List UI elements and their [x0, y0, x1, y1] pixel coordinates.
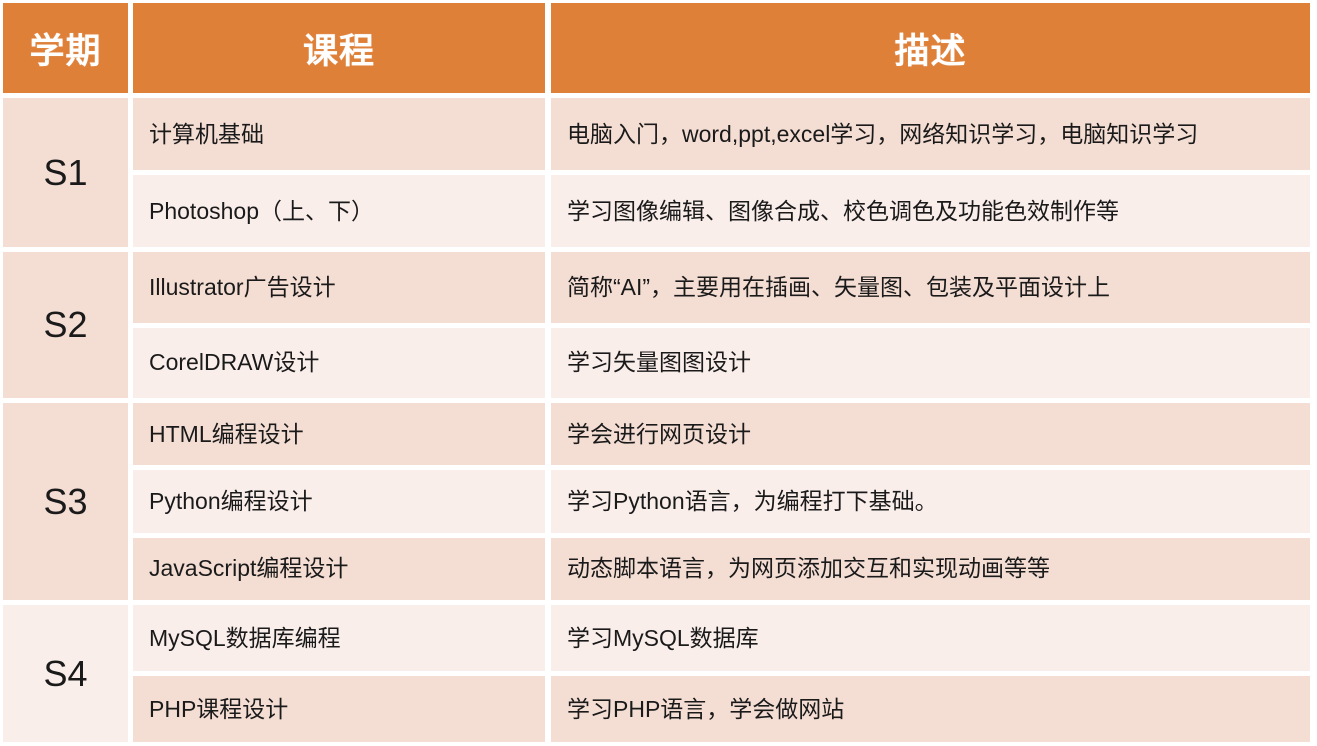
semester-group-s2: S2 Illustrator广告设计 简称“AI”，主要用在插画、矢量图、包装及… — [0, 252, 1317, 398]
course-description: 学习PHP语言，学会做网站 — [551, 676, 1310, 742]
semester-group-s4: S4 MySQL数据库编程 学习MySQL数据库 PHP课程设计 学习PHP语言… — [0, 605, 1317, 742]
table-row: Illustrator广告设计 简称“AI”，主要用在插画、矢量图、包装及平面设… — [133, 252, 1310, 323]
course-description: 动态脚本语言，为网页添加交互和实现动画等等 — [551, 538, 1310, 600]
course-description: 学习图像编辑、图像合成、校色调色及功能色效制作等 — [551, 175, 1310, 247]
table-header-row: 学期 课程 描述 — [0, 0, 1317, 93]
course-description: 学会进行网页设计 — [551, 403, 1310, 465]
course-name: MySQL数据库编程 — [133, 605, 545, 671]
course-name: PHP课程设计 — [133, 676, 545, 742]
course-name: Python编程设计 — [133, 470, 545, 532]
course-name: CorelDRAW设计 — [133, 328, 545, 399]
course-description: 电脑入门，word,ppt,excel学习，网络知识学习，电脑知识学习 — [551, 98, 1310, 170]
course-description: 学习MySQL数据库 — [551, 605, 1310, 671]
semester-label-s3: S3 — [3, 403, 128, 600]
semester-label-s4: S4 — [3, 605, 128, 742]
semester-group-s1: S1 计算机基础 电脑入门，word,ppt,excel学习，网络知识学习，电脑… — [0, 98, 1317, 247]
semester-group-s3: S3 HTML编程设计 学会进行网页设计 Python编程设计 学习Python… — [0, 403, 1317, 600]
course-name: HTML编程设计 — [133, 403, 545, 465]
table-row: CorelDRAW设计 学习矢量图图设计 — [133, 328, 1310, 399]
course-name: JavaScript编程设计 — [133, 538, 545, 600]
table-row: 计算机基础 电脑入门，word,ppt,excel学习，网络知识学习，电脑知识学… — [133, 98, 1310, 170]
table-row: Python编程设计 学习Python语言，为编程打下基础。 — [133, 470, 1310, 532]
course-description: 学习矢量图图设计 — [551, 328, 1310, 399]
table-row: MySQL数据库编程 学习MySQL数据库 — [133, 605, 1310, 671]
semester-rows-s3: HTML编程设计 学会进行网页设计 Python编程设计 学习Python语言，… — [133, 403, 1310, 600]
semester-label-s2: S2 — [3, 252, 128, 398]
semester-rows-s4: MySQL数据库编程 学习MySQL数据库 PHP课程设计 学习PHP语言，学会… — [133, 605, 1310, 742]
course-name: 计算机基础 — [133, 98, 545, 170]
table-row: JavaScript编程设计 动态脚本语言，为网页添加交互和实现动画等等 — [133, 538, 1310, 600]
course-name: Photoshop（上、下） — [133, 175, 545, 247]
table-row: Photoshop（上、下） 学习图像编辑、图像合成、校色调色及功能色效制作等 — [133, 175, 1310, 247]
course-description: 学习Python语言，为编程打下基础。 — [551, 470, 1310, 532]
table-body: S1 计算机基础 电脑入门，word,ppt,excel学习，网络知识学习，电脑… — [0, 93, 1317, 746]
column-header-semester: 学期 — [3, 3, 128, 93]
semester-rows-s2: Illustrator广告设计 简称“AI”，主要用在插画、矢量图、包装及平面设… — [133, 252, 1310, 398]
column-header-description: 描述 — [551, 3, 1310, 93]
table-row: PHP课程设计 学习PHP语言，学会做网站 — [133, 676, 1310, 742]
table-row: HTML编程设计 学会进行网页设计 — [133, 403, 1310, 465]
course-curriculum-table: 学期 课程 描述 S1 计算机基础 电脑入门，word,ppt,excel学习，… — [0, 0, 1317, 732]
column-header-course: 课程 — [133, 3, 545, 93]
semester-rows-s1: 计算机基础 电脑入门，word,ppt,excel学习，网络知识学习，电脑知识学… — [133, 98, 1310, 247]
course-name: Illustrator广告设计 — [133, 252, 545, 323]
course-description: 简称“AI”，主要用在插画、矢量图、包装及平面设计上 — [551, 252, 1310, 323]
semester-label-s1: S1 — [3, 98, 128, 247]
